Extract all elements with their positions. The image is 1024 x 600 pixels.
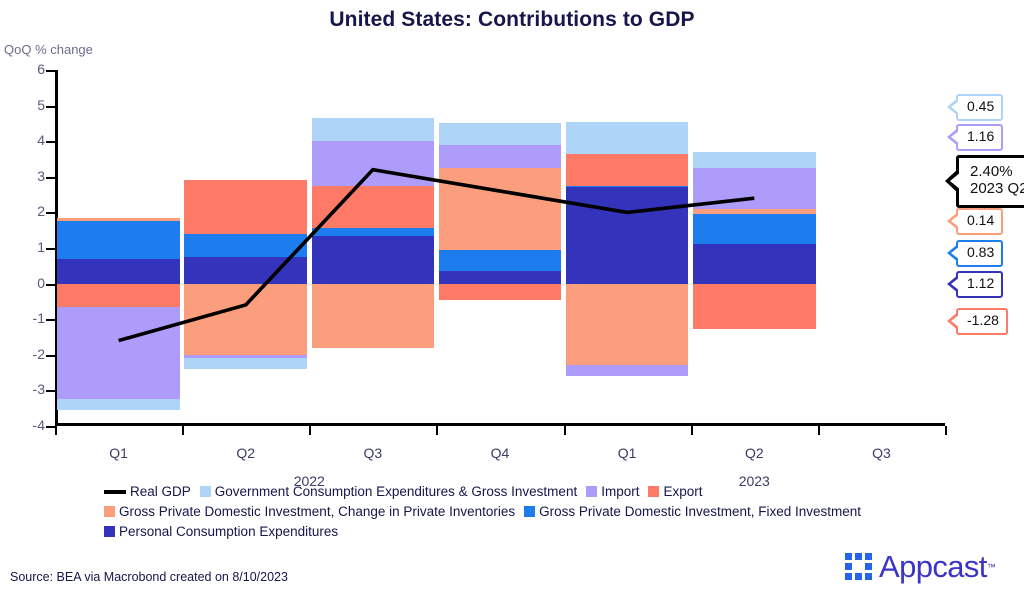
plot-area: 6543210-1-2-3-4 Q1Q2Q3Q4Q1Q2Q320222023 (55, 70, 945, 426)
y-axis-label: QoQ % change (4, 42, 93, 57)
legend-swatch-icon (104, 506, 115, 517)
page-title: United States: Contributions to GDP (0, 8, 1024, 32)
legend-swatch-icon (648, 486, 659, 497)
y-axis-tick-label: -3 (9, 381, 45, 397)
source-note: Source: BEA via Macrobond created on 8/1… (10, 570, 288, 584)
callout-group: 0.451.162.40%2023 Q20.140.831.12-1.28 (938, 0, 1024, 600)
legend-row: Real GDPGovernment Consumption Expenditu… (100, 484, 940, 499)
x-axis-tick-label: Q2 (699, 445, 809, 461)
callout-value: 0.14 (967, 212, 994, 228)
callout-value: 1.12 (967, 275, 994, 291)
callout-beak-inner-icon (951, 277, 960, 291)
y-axis-tick-label: 5 (9, 97, 45, 113)
callout-beak-inner-icon (950, 172, 961, 190)
x-axis-tick-label: Q1 (64, 445, 174, 461)
x-axis-tick (818, 426, 820, 435)
value-callout[interactable]: -1.28 (956, 308, 1008, 335)
y-axis-tick-label: 6 (9, 61, 45, 77)
value-callout[interactable]: 0.45 (956, 94, 1003, 121)
callout-value: 0.83 (967, 244, 994, 260)
x-axis-tick-label: Q2 (191, 445, 301, 461)
callout-value: 2.40% (970, 163, 1013, 180)
legend-swatch-icon (104, 526, 115, 537)
legend-label: Import (601, 484, 639, 499)
y-axis-tick (46, 355, 55, 357)
x-axis-tick-label: Q4 (445, 445, 555, 461)
y-axis-tick-label: 1 (9, 239, 45, 255)
legend-label: Gross Private Domestic Investment, Chang… (119, 504, 515, 519)
y-axis-tick-label: 3 (9, 168, 45, 184)
logo-trademark-icon: ™ (987, 562, 996, 572)
y-axis-tick (46, 284, 55, 286)
legend-item[interactable]: Import (586, 484, 639, 499)
legend-swatch-icon (524, 506, 535, 517)
callout-beak-inner-icon (951, 130, 960, 144)
value-callout[interactable]: 1.16 (956, 124, 1003, 151)
y-axis-tick-label: -2 (9, 346, 45, 362)
legend-label: Gross Private Domestic Investment, Fixed… (539, 504, 861, 519)
legend-label: Real GDP (130, 484, 191, 499)
value-callout[interactable]: 2.40%2023 Q2 (956, 155, 1024, 208)
legend-item[interactable]: Gross Private Domestic Investment, Fixed… (524, 504, 861, 519)
legend-label: Government Consumption Expenditures & Gr… (215, 484, 577, 499)
x-axis-tick-label: Q3 (826, 445, 936, 461)
callout-beak-inner-icon (951, 214, 960, 228)
y-axis-tick-label: -4 (9, 417, 45, 433)
value-callout[interactable]: 1.12 (956, 271, 1003, 298)
legend-item[interactable]: Export (648, 484, 702, 499)
callout-beak-inner-icon (951, 314, 960, 328)
x-axis-tick (182, 426, 184, 435)
legend-line-icon (104, 490, 126, 494)
legend: Real GDPGovernment Consumption Expenditu… (100, 484, 940, 544)
legend-item[interactable]: Gross Private Domestic Investment, Chang… (104, 504, 515, 519)
callout-period: 2023 Q2 (970, 181, 1024, 198)
callout-value: -1.28 (967, 312, 999, 328)
x-axis-tick-label: Q3 (318, 445, 428, 461)
callout-beak-inner-icon (951, 100, 960, 114)
y-axis-tick (46, 106, 55, 108)
real-gdp-polyline (119, 170, 755, 341)
callout-value: 0.45 (967, 98, 994, 114)
legend-label: Personal Consumption Expenditures (119, 524, 338, 539)
logo-dots-icon (845, 553, 872, 580)
x-axis-tick (691, 426, 693, 435)
value-callout[interactable]: 0.83 (956, 240, 1003, 267)
value-callout[interactable]: 0.14 (956, 208, 1003, 235)
y-axis-tick (46, 177, 55, 179)
y-axis-tick (46, 248, 55, 250)
y-axis-tick (46, 141, 55, 143)
x-axis-tick (436, 426, 438, 435)
callout-beak-inner-icon (951, 246, 960, 260)
chart-page: United States: Contributions to GDP QoQ … (0, 0, 1024, 600)
y-axis-tick-label: 2 (9, 203, 45, 219)
legend-item[interactable]: Government Consumption Expenditures & Gr… (200, 484, 577, 499)
real-gdp-line (55, 70, 945, 426)
y-axis-tick (46, 390, 55, 392)
legend-item[interactable]: Personal Consumption Expenditures (104, 524, 338, 539)
legend-row: Gross Private Domestic Investment, Chang… (100, 504, 940, 519)
y-axis-tick-label: 0 (9, 275, 45, 291)
y-axis-tick (46, 70, 55, 72)
x-axis-tick (309, 426, 311, 435)
legend-item[interactable]: Real GDP (104, 484, 191, 499)
legend-label: Export (663, 484, 702, 499)
legend-row: Personal Consumption Expenditures (100, 524, 940, 539)
y-axis-tick (46, 319, 55, 321)
legend-swatch-icon (586, 486, 597, 497)
x-axis-tick (564, 426, 566, 435)
y-axis-tick-label: -1 (9, 310, 45, 326)
callout-value: 1.16 (967, 128, 994, 144)
logo-wordmark: Appcast (879, 551, 987, 582)
y-axis-tick-label: 4 (9, 132, 45, 148)
x-axis-tick (55, 426, 57, 435)
appcast-logo: Appcast ™ (845, 551, 996, 582)
x-axis-tick-label: Q1 (572, 445, 682, 461)
y-axis-tick (46, 426, 55, 428)
y-axis-tick (46, 212, 55, 214)
legend-swatch-icon (200, 486, 211, 497)
